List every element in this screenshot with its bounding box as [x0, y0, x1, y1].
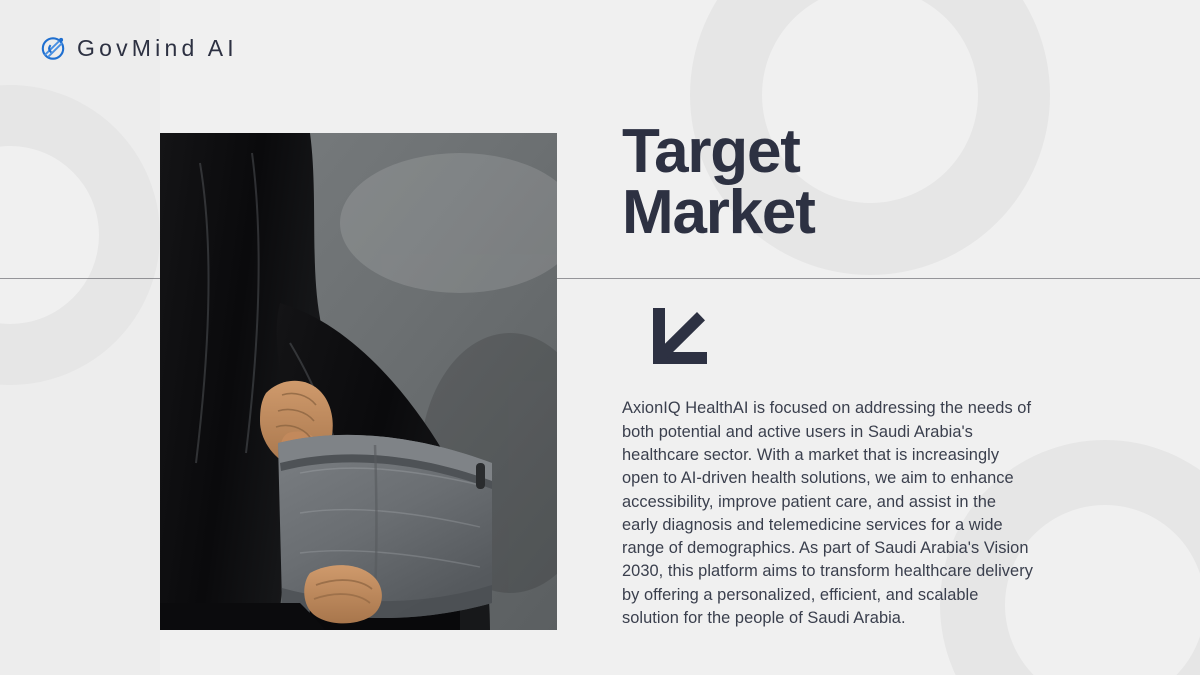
- brand-logo[interactable]: GovMind AI: [38, 33, 238, 63]
- hand-lower: [304, 565, 382, 623]
- page-title: Target Market: [622, 122, 1052, 244]
- ring-left-hole: [0, 146, 99, 324]
- arrow-down-left-glyph: [645, 306, 709, 366]
- hero-photo: [160, 133, 557, 630]
- govmind-orbit-logo-icon: [38, 33, 68, 63]
- arrow-down-left-icon: [645, 306, 709, 366]
- hero-photo-illustration: [160, 133, 557, 630]
- slide-target-market: GovMind AI: [0, 0, 1200, 675]
- ring-left: [0, 85, 160, 385]
- brand-name: GovMind AI: [77, 37, 238, 60]
- left-band: [0, 0, 160, 675]
- body-paragraph: AxionIQ HealthAI is focused on addressin…: [622, 397, 1034, 630]
- ring-bottom-right-hole: [1005, 505, 1200, 675]
